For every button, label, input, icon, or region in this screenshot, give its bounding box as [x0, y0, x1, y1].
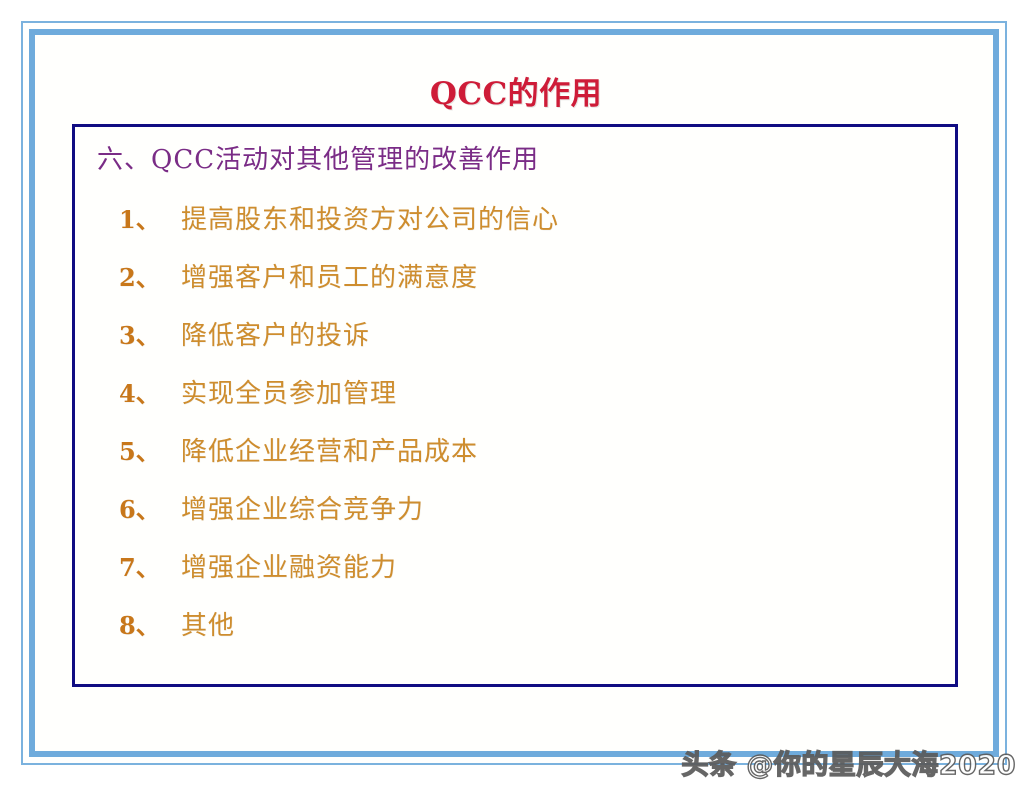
list-item-number: 5、	[119, 432, 181, 467]
page-title: QCC的作用	[23, 77, 1009, 111]
list-item-label: 增强企业综合竞争力	[181, 489, 424, 526]
list-item-number: 3、	[119, 316, 181, 351]
list-item-number: 1、	[119, 200, 181, 235]
list-item-number: 4、	[119, 374, 181, 409]
list-item: 8、 其他	[119, 605, 945, 663]
list-item-label: 其他	[181, 605, 235, 642]
slide-content: QCC的作用 六、QCC活动对其他管理的改善作用 1、 提高股东和投资方对公司的…	[23, 23, 1009, 767]
section-heading: 六、QCC活动对其他管理的改善作用	[97, 139, 539, 176]
list-item-number: 6、	[119, 490, 181, 525]
list-item: 3、 降低客户的投诉	[119, 315, 945, 373]
list-item: 6、 增强企业综合竞争力	[119, 489, 945, 547]
content-box: 六、QCC活动对其他管理的改善作用 1、 提高股东和投资方对公司的信心 2、 增…	[72, 124, 958, 687]
list-item: 7、 增强企业融资能力	[119, 547, 945, 605]
list-item: 5、 降低企业经营和产品成本	[119, 431, 945, 489]
list-item-label: 降低企业经营和产品成本	[181, 431, 478, 468]
list-item-number: 2、	[119, 258, 181, 293]
list-item: 2、 增强客户和员工的满意度	[119, 257, 945, 315]
slide-outer-frame: QCC的作用 六、QCC活动对其他管理的改善作用 1、 提高股东和投资方对公司的…	[21, 21, 1007, 765]
numbered-list: 1、 提高股东和投资方对公司的信心 2、 增强客户和员工的满意度 3、 降低客户…	[119, 199, 945, 663]
list-item-label: 增强企业融资能力	[181, 547, 397, 584]
list-item-label: 增强客户和员工的满意度	[181, 257, 478, 294]
list-item-label: 提高股东和投资方对公司的信心	[181, 199, 559, 236]
list-item: 4、 实现全员参加管理	[119, 373, 945, 431]
list-item-label: 实现全员参加管理	[181, 373, 397, 410]
list-item-number: 7、	[119, 548, 181, 583]
list-item: 1、 提高股东和投资方对公司的信心	[119, 199, 945, 257]
list-item-label: 降低客户的投诉	[181, 315, 370, 352]
list-item-number: 8、	[119, 606, 181, 641]
